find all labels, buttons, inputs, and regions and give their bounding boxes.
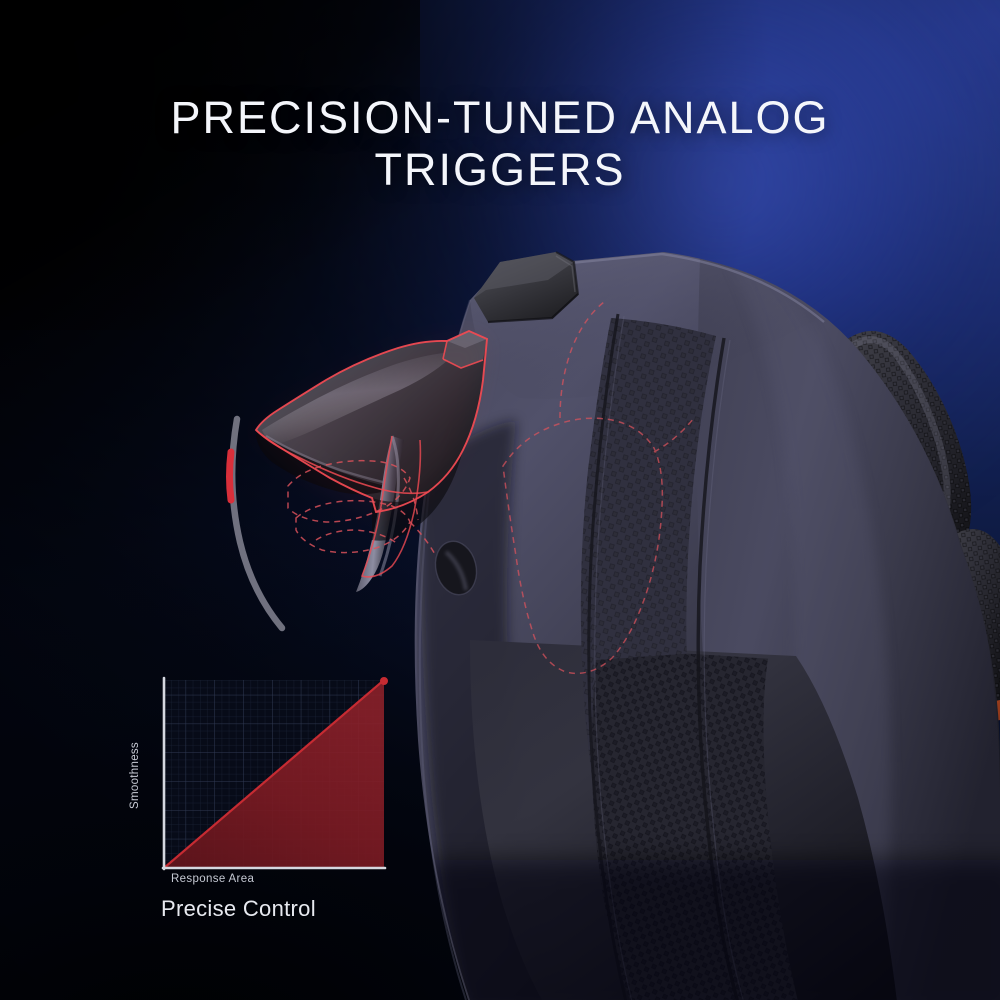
product-feature-banner: PRECISION-TUNED ANALOG TRIGGERS (0, 0, 1000, 1000)
chart-y-axis-label: Smoothness (129, 742, 141, 809)
chart-caption: Precise Control (161, 896, 316, 922)
precise-control-chart (128, 666, 418, 928)
chart-x-axis-label: Response Area (171, 873, 254, 885)
page-title: PRECISION-TUNED ANALOG TRIGGERS (0, 92, 1000, 196)
page-title-line-1: PRECISION-TUNED ANALOG (170, 92, 829, 143)
chart-endpoint-marker (380, 677, 388, 685)
chart-canvas (128, 666, 418, 928)
page-title-line-2: TRIGGERS (0, 144, 1000, 196)
